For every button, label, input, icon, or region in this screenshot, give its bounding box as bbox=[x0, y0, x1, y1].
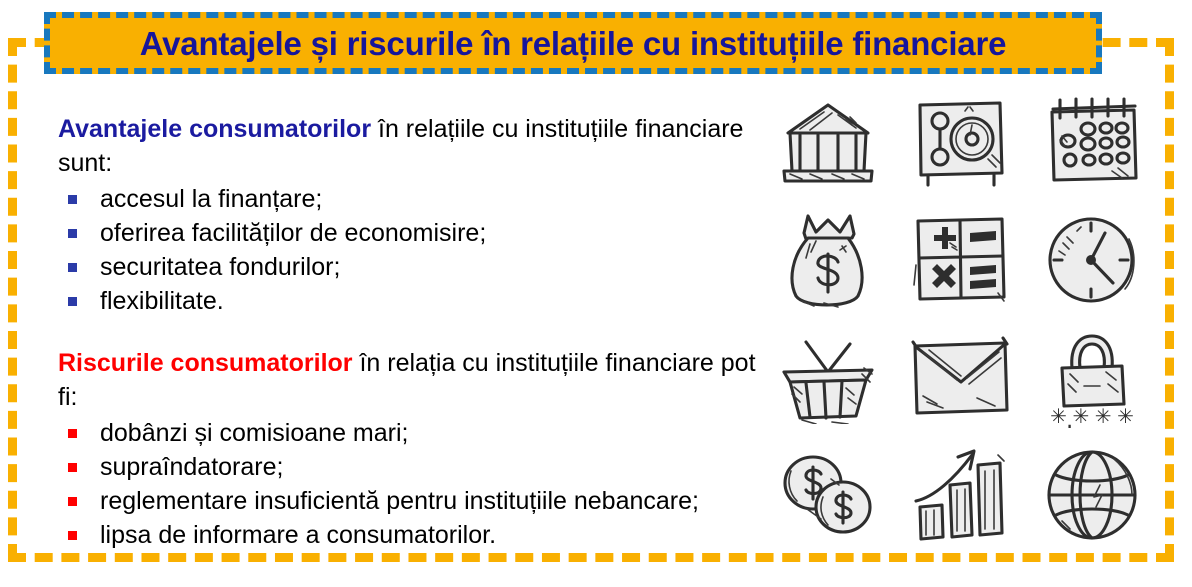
money-bag-icon bbox=[769, 204, 887, 316]
list-item-label: supraîndatorare; bbox=[100, 453, 283, 481]
title-banner: Avantajele și riscurile în relațiile cu … bbox=[44, 12, 1102, 74]
bullet-square-icon bbox=[68, 263, 77, 272]
dollar-coins-icon bbox=[769, 439, 887, 551]
list-item: accesul la finanțare; bbox=[58, 182, 758, 216]
advantages-list: accesul la finanțare; oferirea facilităț… bbox=[58, 182, 758, 318]
risks-lead-highlight: Riscurile consumatorilor bbox=[58, 349, 353, 377]
list-item-label: securitatea fondurilor; bbox=[100, 253, 340, 281]
clock-icon bbox=[1033, 204, 1151, 316]
list-item: lipsa de informare a consumatorilor. bbox=[58, 518, 758, 552]
bullet-square-icon bbox=[68, 229, 77, 238]
list-item-label: lipsa de informare a consumatorilor. bbox=[100, 521, 496, 549]
list-item-label: accesul la finanțare; bbox=[100, 185, 322, 213]
list-item: supraîndatorare; bbox=[58, 450, 758, 484]
list-item-label: dobânzi și comisioane mari; bbox=[100, 419, 408, 447]
bullet-square-icon bbox=[68, 297, 77, 306]
advantages-lead: Avantajele consumatorilor în relațiile c… bbox=[58, 112, 758, 180]
list-item-label: oferirea facilităților de economisire; bbox=[100, 219, 486, 247]
section-spacer bbox=[58, 324, 758, 346]
calendar-icon bbox=[1033, 87, 1151, 199]
list-item: flexibilitate. bbox=[58, 284, 758, 318]
risks-lead: Riscurile consumatorilor în relația cu i… bbox=[58, 346, 758, 414]
content-column: Avantajele consumatorilor în relațiile c… bbox=[58, 112, 758, 558]
list-item: reglementare insuficientă pentru institu… bbox=[58, 484, 758, 518]
slide-root: Avantajele și riscurile în relațiile cu … bbox=[0, 0, 1192, 587]
risks-section: Riscurile consumatorilor în relația cu i… bbox=[58, 346, 758, 552]
page-title: Avantajele și riscurile în relațiile cu … bbox=[140, 27, 1007, 60]
padlock-password-icon: ✳ ✳ ✳ ✳ bbox=[1033, 322, 1151, 434]
list-item-label: reglementare insuficientă pentru institu… bbox=[100, 487, 699, 515]
sketch-icon-grid: ✳ ✳ ✳ ✳ bbox=[762, 84, 1158, 554]
envelope-mail-icon bbox=[901, 322, 1019, 434]
bullet-square-icon bbox=[68, 463, 77, 472]
bullet-square-icon bbox=[68, 429, 77, 438]
list-item: oferirea facilităților de economisire; bbox=[58, 216, 758, 250]
list-item-label: flexibilitate. bbox=[100, 287, 224, 315]
bullet-square-icon bbox=[68, 195, 77, 204]
risks-list: dobânzi și comisioane mari; supraîndator… bbox=[58, 416, 758, 552]
bank-building-icon bbox=[769, 87, 887, 199]
safe-vault-icon bbox=[901, 87, 1019, 199]
password-mask-label: ✳ ✳ ✳ ✳ bbox=[1050, 406, 1134, 428]
shopping-basket-icon bbox=[769, 322, 887, 434]
calculator-operations-icon bbox=[901, 204, 1019, 316]
globe-icon bbox=[1033, 439, 1151, 551]
growth-bar-chart-icon bbox=[901, 439, 1019, 551]
advantages-section: Avantajele consumatorilor în relațiile c… bbox=[58, 112, 758, 318]
bullet-square-icon bbox=[68, 497, 77, 506]
list-item: securitatea fondurilor; bbox=[58, 250, 758, 284]
advantages-lead-highlight: Avantajele consumatorilor bbox=[58, 115, 371, 143]
list-item: dobânzi și comisioane mari; bbox=[58, 416, 758, 450]
bullet-square-icon bbox=[68, 531, 77, 540]
